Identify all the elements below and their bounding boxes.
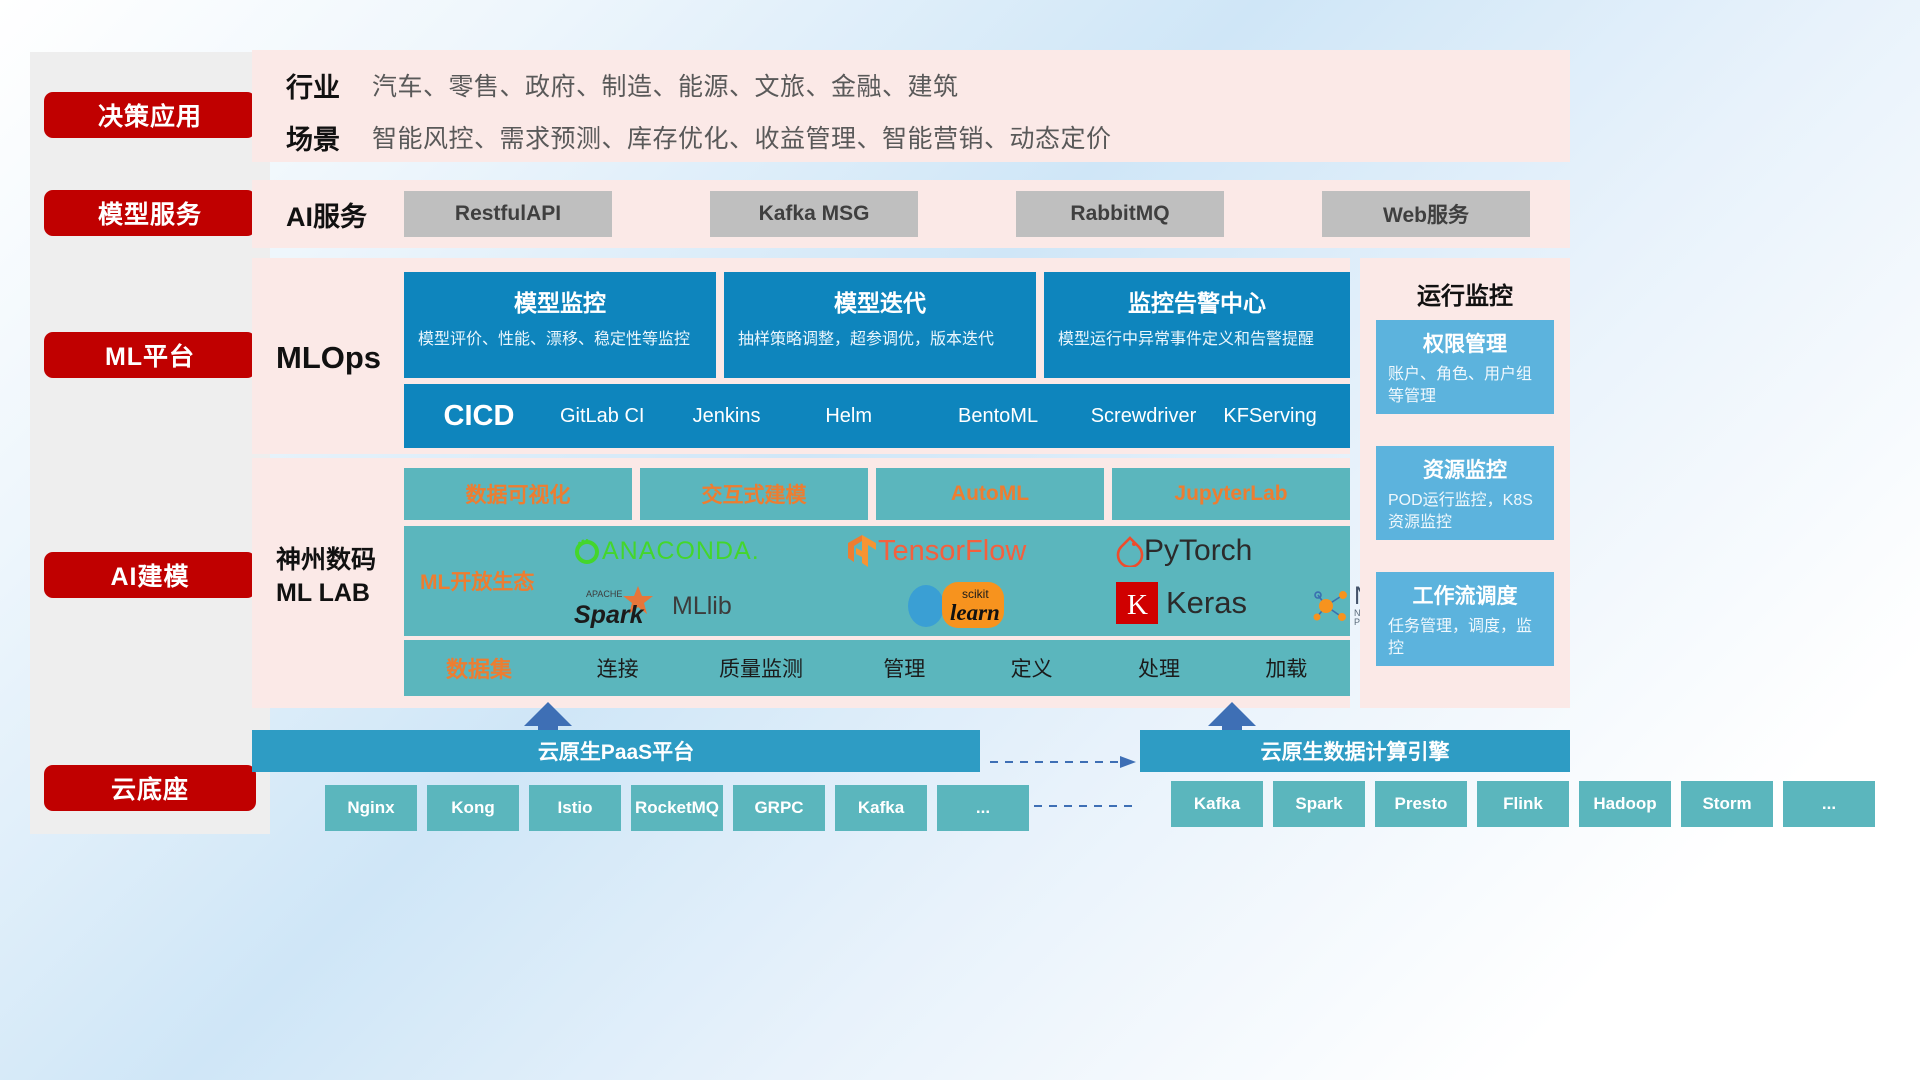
- dataset-item-connect[interactable]: 连接: [554, 653, 681, 683]
- cloud-chip-more-left[interactable]: ...: [937, 785, 1029, 831]
- sklearn-icon: scikit learn: [904, 580, 1024, 630]
- rail-item-ai-modeling[interactable]: AI建模: [44, 552, 256, 598]
- engine-chip-flink[interactable]: Flink: [1477, 781, 1569, 827]
- chip-label: Kafka: [858, 799, 904, 817]
- cloud-chip-istio[interactable]: Istio: [529, 785, 621, 831]
- chip-label: 交互式建模: [702, 479, 807, 509]
- engine-chip-storm[interactable]: Storm: [1681, 781, 1773, 827]
- pytorch-text: PyTorch: [1144, 534, 1252, 568]
- chip-label: ...: [976, 799, 990, 817]
- monitoring-card-resource[interactable]: 资源监控 POD运行监控，K8S资源监控: [1376, 446, 1554, 540]
- svg-text:scikit: scikit: [962, 587, 989, 601]
- rail-item-model-service[interactable]: 模型服务: [44, 190, 256, 236]
- cicd-item-screwdriver[interactable]: Screwdriver: [1085, 405, 1218, 427]
- mlops-band: MLOps 模型监控 模型评价、性能、漂移、稳定性等监控 模型迭代 抽样策略调整…: [252, 258, 1350, 454]
- card-desc: 模型评价、性能、漂移、稳定性等监控: [418, 328, 702, 351]
- cicd-bar: CICD GitLab CI Jenkins Helm BentoML Scre…: [404, 384, 1350, 448]
- rail-item-decision-app[interactable]: 决策应用: [44, 92, 256, 138]
- monitoring-title: 运行监控: [1360, 276, 1570, 311]
- rail-label: AI建模: [110, 557, 189, 593]
- data-engine-title: 云原生数据计算引擎: [1261, 736, 1450, 766]
- chip-label: Kong: [451, 799, 494, 817]
- industry-row: 行业 汽车、零售、政府、制造、能源、文旅、金融、建筑: [252, 62, 959, 108]
- ai-service-label: AI服务: [286, 180, 367, 248]
- ml-lab-label-line2: ML LAB: [276, 577, 376, 610]
- card-desc: 模型运行中异常事件定义和告警提醒: [1058, 328, 1336, 351]
- chip-label: Spark: [1295, 795, 1342, 813]
- scenario-value: 智能风控、需求预测、库存优化、收益管理、智能营销、动态定价: [372, 119, 1112, 155]
- pytorch-logo: PyTorch: [1116, 534, 1252, 568]
- chip-label: Presto: [1395, 795, 1448, 813]
- scenario-key: 场景: [252, 118, 372, 157]
- ecosystem-label: ML开放生态: [420, 526, 534, 636]
- decision-app-band: 行业 汽车、零售、政府、制造、能源、文旅、金融、建筑 场景 智能风控、需求预测、…: [252, 50, 1570, 162]
- dataset-item-process[interactable]: 处理: [1095, 653, 1222, 683]
- cloud-chip-kafka[interactable]: Kafka: [835, 785, 927, 831]
- architecture-diagram: 决策应用 模型服务 ML平台 AI建模 云底座 行业 汽车、零售、政府、制造、能…: [0, 0, 1920, 1080]
- chip-label: GRPC: [754, 799, 803, 817]
- tensorflow-text: TensorFlow: [878, 535, 1026, 568]
- chip-label: Storm: [1702, 795, 1751, 813]
- paas-platform-title: 云原生PaaS平台: [538, 736, 694, 766]
- tensorflow-logo: TensorFlow: [846, 534, 1026, 568]
- ecosystem-block: ML开放生态 ANACONDA . TensorFlow: [404, 526, 1350, 636]
- dataset-item-define[interactable]: 定义: [968, 653, 1095, 683]
- chip-label: AutoML: [951, 482, 1029, 506]
- cicd-item-helm[interactable]: Helm: [819, 405, 952, 427]
- cicd-title: CICD: [404, 400, 554, 433]
- anaconda-icon: [572, 536, 602, 566]
- ai-service-band: AI服务 RestfulAPI Kafka MSG RabbitMQ Web服务: [252, 180, 1570, 248]
- card-desc: 抽样策略调整，超参调优，版本迭代: [738, 328, 1022, 351]
- mlops-card-model-iteration[interactable]: 模型迭代 抽样策略调整，超参调优，版本迭代: [724, 272, 1036, 378]
- chip-label: Web服务: [1383, 199, 1469, 229]
- cicd-item-gitlab-ci[interactable]: GitLab CI: [554, 405, 687, 427]
- card-title: 资源监控: [1388, 454, 1542, 484]
- chip-label: 数据可视化: [466, 479, 571, 509]
- ai-service-chip-rabbitmq[interactable]: RabbitMQ: [1016, 191, 1224, 237]
- keras-icon: K: [1116, 582, 1158, 624]
- tool-chip-interactive-modeling[interactable]: 交互式建模: [640, 468, 868, 520]
- cloud-chip-nginx[interactable]: Nginx: [325, 785, 417, 831]
- anaconda-dot: .: [752, 537, 759, 566]
- engine-chip-hadoop[interactable]: Hadoop: [1579, 781, 1671, 827]
- ai-service-chip-restfulapi[interactable]: RestfulAPI: [404, 191, 612, 237]
- chip-label: ...: [1822, 795, 1836, 813]
- chip-label: RabbitMQ: [1070, 202, 1169, 226]
- monitoring-card-permission[interactable]: 权限管理 账户、角色、用户组等管理: [1376, 320, 1554, 414]
- tool-chip-jupyterlab[interactable]: JupyterLab: [1112, 468, 1350, 520]
- cloud-chip-rocketmq[interactable]: RocketMQ: [631, 785, 723, 831]
- svg-text:APACHE: APACHE: [586, 589, 622, 599]
- card-title: 监控告警中心: [1058, 284, 1336, 318]
- tensorflow-icon: [846, 534, 878, 568]
- engine-chip-more-right[interactable]: ...: [1783, 781, 1875, 827]
- rail-label: 模型服务: [98, 195, 202, 231]
- cicd-item-kfserving[interactable]: KFServing: [1217, 405, 1350, 427]
- ai-service-chip-kafka-msg[interactable]: Kafka MSG: [710, 191, 918, 237]
- ai-service-chip-web-service[interactable]: Web服务: [1322, 191, 1530, 237]
- card-title: 模型迭代: [738, 284, 1022, 318]
- ml-lab-label-line1: 神州数码: [276, 544, 376, 577]
- dataset-item-quality-monitor[interactable]: 质量监测: [681, 653, 840, 683]
- card-desc: POD运行监控，K8S资源监控: [1388, 490, 1542, 533]
- tool-chip-data-visualization[interactable]: 数据可视化: [404, 468, 632, 520]
- mlops-card-model-monitoring[interactable]: 模型监控 模型评价、性能、漂移、稳定性等监控: [404, 272, 716, 378]
- chip-label: Kafka: [1194, 795, 1240, 813]
- mllib-text: MLlib: [672, 592, 732, 621]
- chip-label: RocketMQ: [635, 799, 719, 817]
- spark-icon: APACHE Spark: [572, 584, 668, 628]
- rail-item-ml-platform[interactable]: ML平台: [44, 332, 256, 378]
- monitoring-card-workflow[interactable]: 工作流调度 任务管理，调度，监控: [1376, 572, 1554, 666]
- scikit-learn-logo: scikit learn: [904, 580, 1024, 630]
- engine-chip-kafka[interactable]: Kafka: [1171, 781, 1263, 827]
- rail-item-cloud-base[interactable]: 云底座: [44, 765, 256, 811]
- keras-text: Keras: [1166, 585, 1247, 621]
- svg-text:Spark: Spark: [574, 601, 645, 628]
- cicd-item-bentoml[interactable]: BentoML: [952, 405, 1085, 427]
- dataset-label: 数据集: [404, 652, 554, 684]
- chip-label: Nginx: [347, 799, 394, 817]
- scenario-row: 场景 智能风控、需求预测、库存优化、收益管理、智能营销、动态定价: [252, 114, 1112, 160]
- dataset-bar: 数据集 连接 质量监测 管理 定义 处理 加载: [404, 640, 1350, 696]
- ml-lab-label: 神州数码 ML LAB: [276, 544, 376, 609]
- chip-label: Kafka MSG: [759, 202, 870, 226]
- keras-logo: K Keras: [1116, 582, 1247, 624]
- mlops-card-alert-center[interactable]: 监控告警中心 模型运行中异常事件定义和告警提醒: [1044, 272, 1350, 378]
- card-desc: 账户、角色、用户组等管理: [1388, 364, 1542, 407]
- chip-label: Flink: [1503, 795, 1543, 813]
- svg-text:learn: learn: [950, 600, 1000, 625]
- rail-label: ML平台: [105, 337, 195, 373]
- card-title: 模型监控: [418, 284, 702, 318]
- industry-value: 汽车、零售、政府、制造、能源、文旅、金融、建筑: [372, 67, 959, 103]
- ml-lab-band: 神州数码 ML LAB 数据可视化 交互式建模 AutoML JupyterLa…: [252, 458, 1350, 708]
- rail-label: 决策应用: [98, 97, 202, 133]
- chip-label: Hadoop: [1593, 795, 1656, 813]
- monitoring-panel: 运行监控 权限管理 账户、角色、用户组等管理 资源监控 POD运行监控，K8S资…: [1360, 258, 1570, 708]
- data-engine-bar[interactable]: 云原生数据计算引擎: [1140, 730, 1570, 772]
- card-title: 权限管理: [1388, 328, 1542, 358]
- chip-label: Istio: [558, 799, 593, 817]
- chip-label: JupyterLab: [1174, 482, 1287, 506]
- chip-label: RestfulAPI: [455, 202, 561, 226]
- dataset-item-manage[interactable]: 管理: [841, 653, 968, 683]
- pytorch-icon: [1116, 535, 1144, 567]
- engine-chip-spark[interactable]: Spark: [1273, 781, 1365, 827]
- anaconda-logo: ANACONDA .: [572, 536, 759, 566]
- cloud-chip-grpc[interactable]: GRPC: [733, 785, 825, 831]
- rail-label: 云底座: [111, 770, 189, 806]
- card-title: 工作流调度: [1388, 580, 1542, 610]
- engine-chip-presto[interactable]: Presto: [1375, 781, 1467, 827]
- networkx-icon: [1312, 586, 1352, 626]
- svg-text:K: K: [1127, 589, 1148, 621]
- dataset-item-load[interactable]: 加载: [1223, 653, 1350, 683]
- tool-chip-automl[interactable]: AutoML: [876, 468, 1104, 520]
- cicd-item-jenkins[interactable]: Jenkins: [687, 405, 820, 427]
- spark-mllib-logo: APACHE Spark MLlib: [572, 584, 732, 628]
- paas-platform-bar[interactable]: 云原生PaaS平台: [252, 730, 980, 772]
- mlops-label: MLOps: [276, 318, 381, 398]
- left-rail: 决策应用 模型服务 ML平台 AI建模: [30, 52, 270, 834]
- card-desc: 任务管理，调度，监控: [1388, 616, 1542, 659]
- anaconda-text: ANACONDA: [602, 537, 752, 566]
- cloud-chip-kong[interactable]: Kong: [427, 785, 519, 831]
- industry-key: 行业: [252, 66, 372, 105]
